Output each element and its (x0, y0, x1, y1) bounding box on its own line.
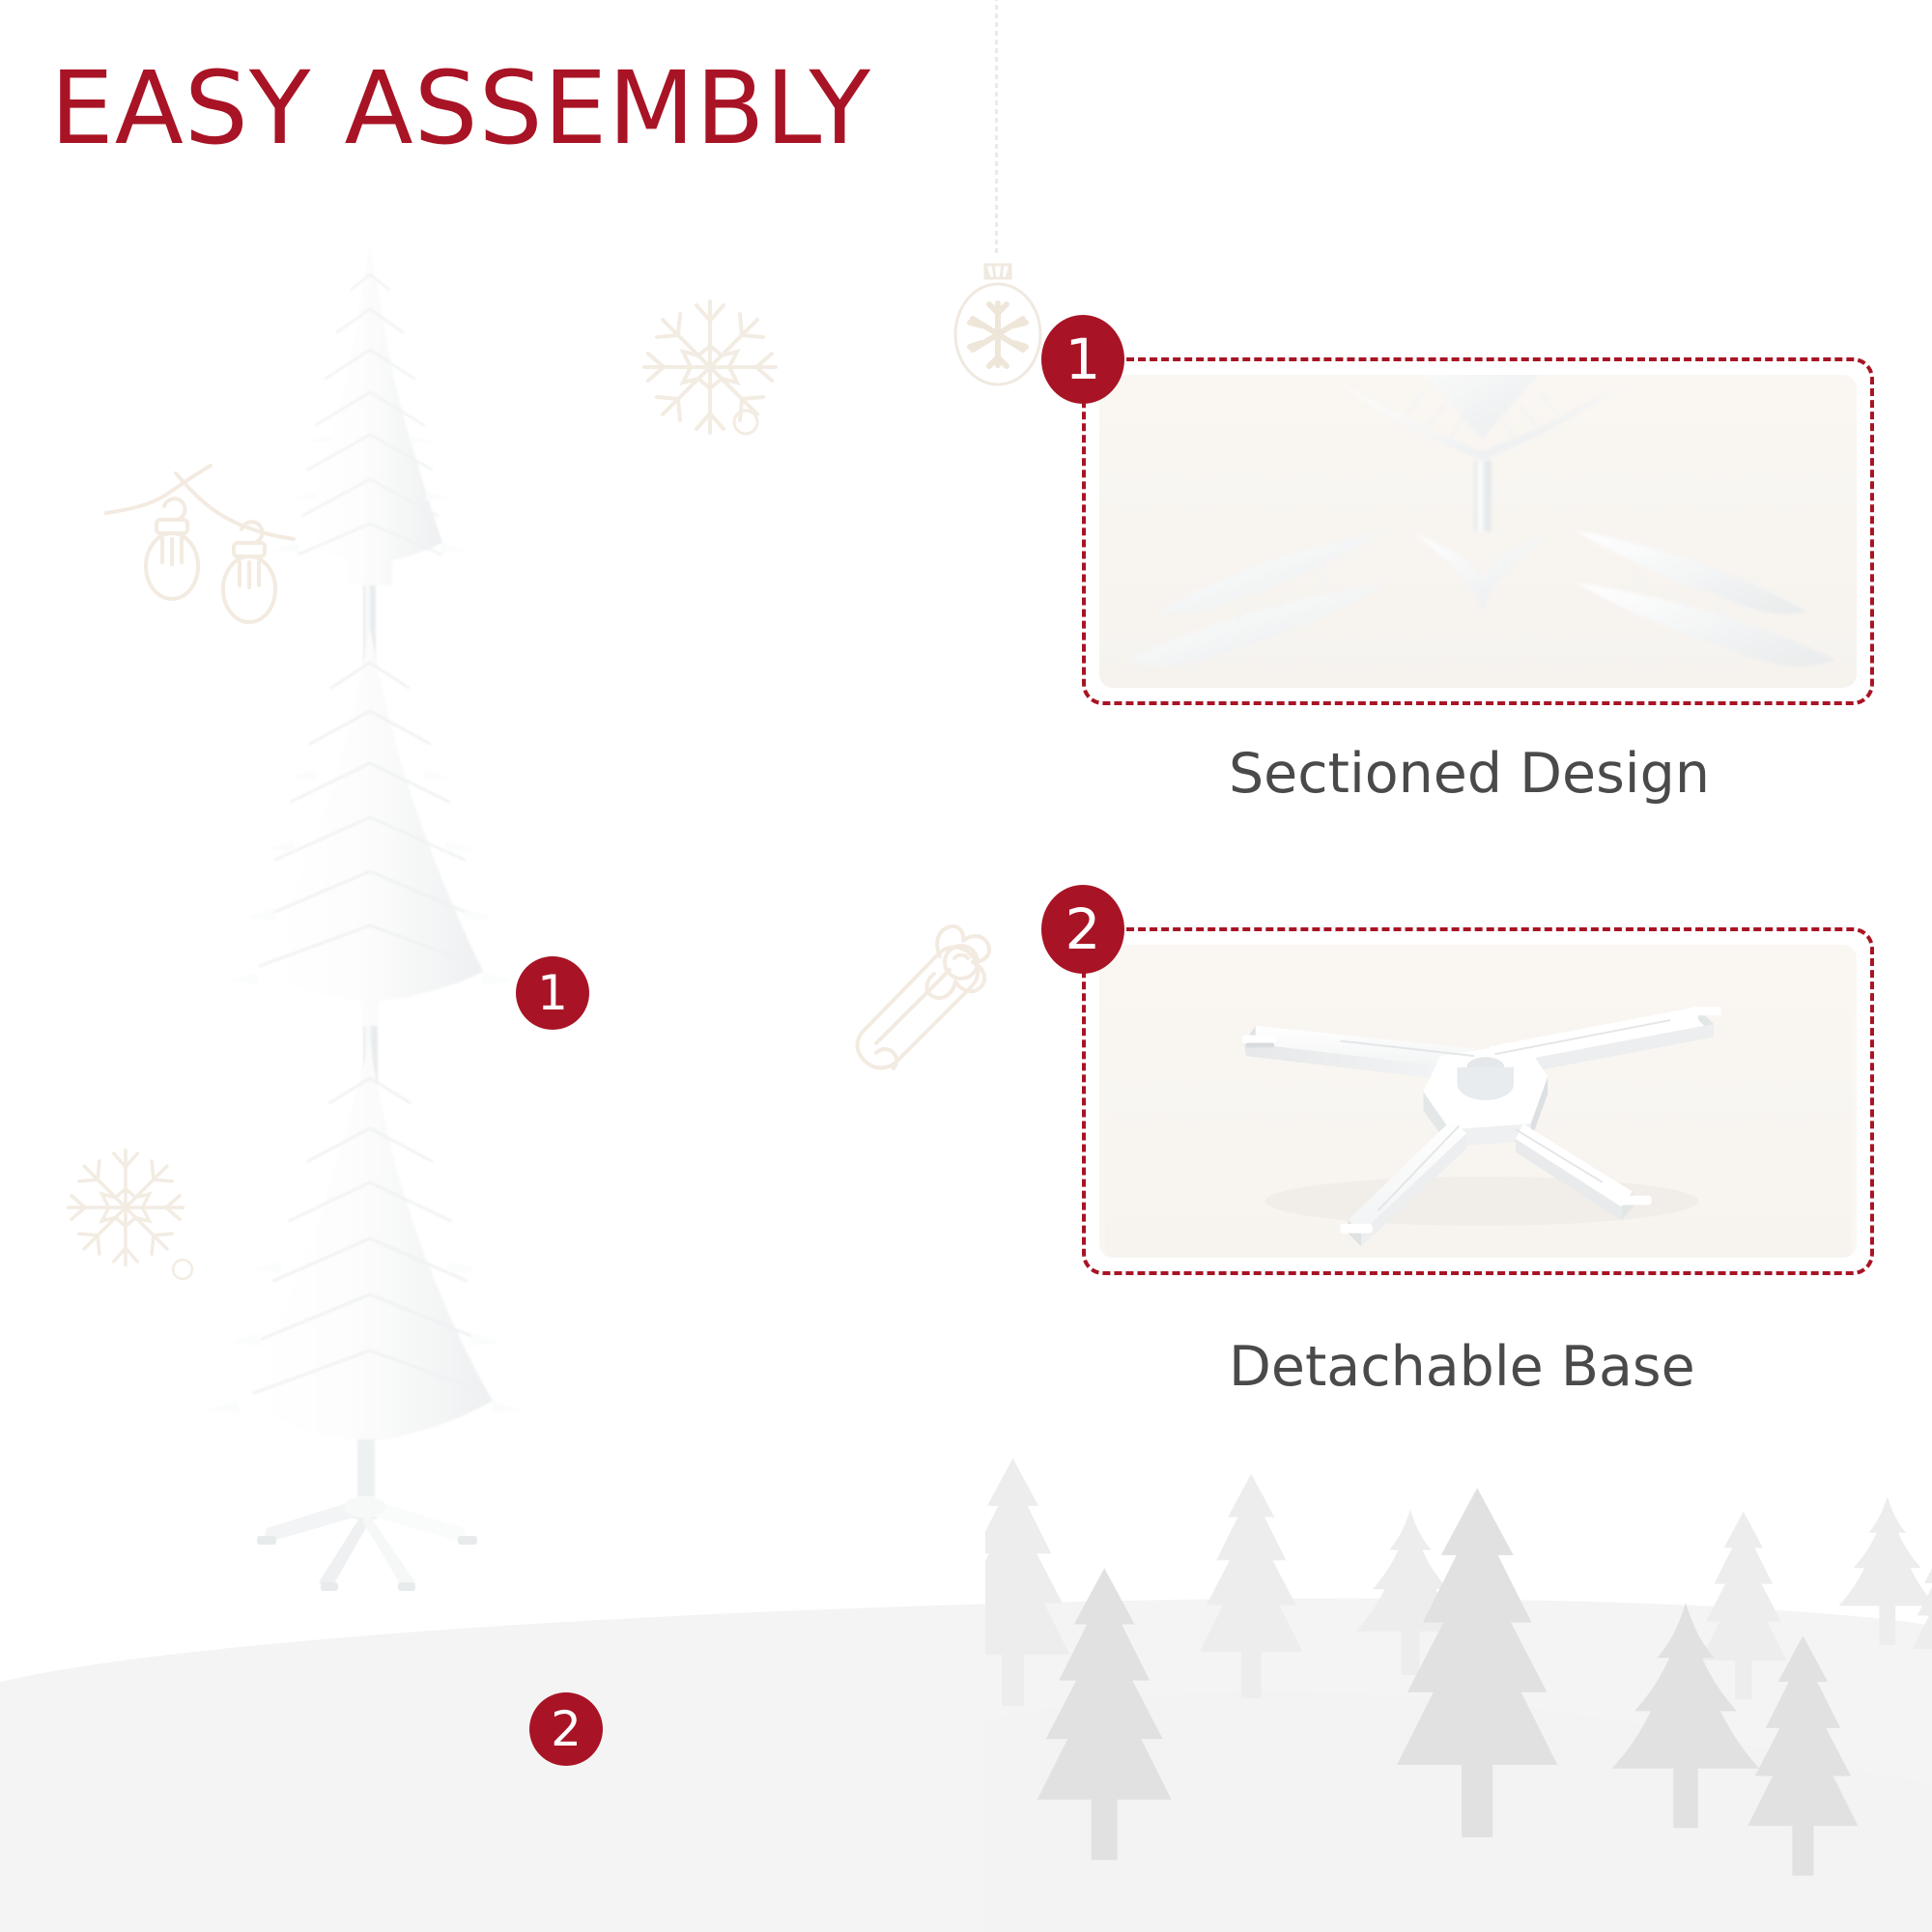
ornament-string (995, 0, 998, 255)
feature-card-detachable-base[interactable]: 2 (1082, 927, 1874, 1275)
feature-caption-2: Detachable Base (1229, 1335, 1695, 1399)
small-circle-decor (729, 406, 762, 439)
feature-card-1-photo-frame (1099, 375, 1857, 688)
snowflake-icon (58, 1140, 193, 1275)
bell-icon (826, 898, 1019, 1092)
ornament-icon (935, 249, 1061, 404)
feature-badge-2-label: 2 (1065, 901, 1101, 957)
tree-marker-2-label: 2 (551, 1705, 582, 1753)
infographic-canvas: EASY ASSEMBLY (0, 0, 1932, 1932)
tree-marker-1-label: 1 (537, 969, 568, 1017)
sectioned-design-photo (1099, 375, 1857, 688)
feature-card-2-photo-frame (1099, 945, 1857, 1258)
detachable-base-photo (1099, 945, 1857, 1258)
pine-forest-icon (985, 1449, 1932, 1932)
feature-badge-1[interactable]: 1 (1041, 315, 1124, 404)
feature-badge-2[interactable]: 2 (1041, 885, 1124, 974)
feature-card-sectioned-design[interactable]: 1 (1082, 357, 1874, 705)
product-tree-illustration (174, 241, 715, 1864)
tree-stand-base (257, 1496, 477, 1591)
tree-marker-2[interactable]: 2 (529, 1692, 603, 1766)
feature-badge-1-label: 1 (1065, 331, 1101, 387)
feature-caption-1: Sectioned Design (1229, 742, 1710, 806)
page-title: EASY ASSEMBLY (50, 58, 871, 158)
tree-marker-1[interactable]: 1 (516, 956, 589, 1030)
